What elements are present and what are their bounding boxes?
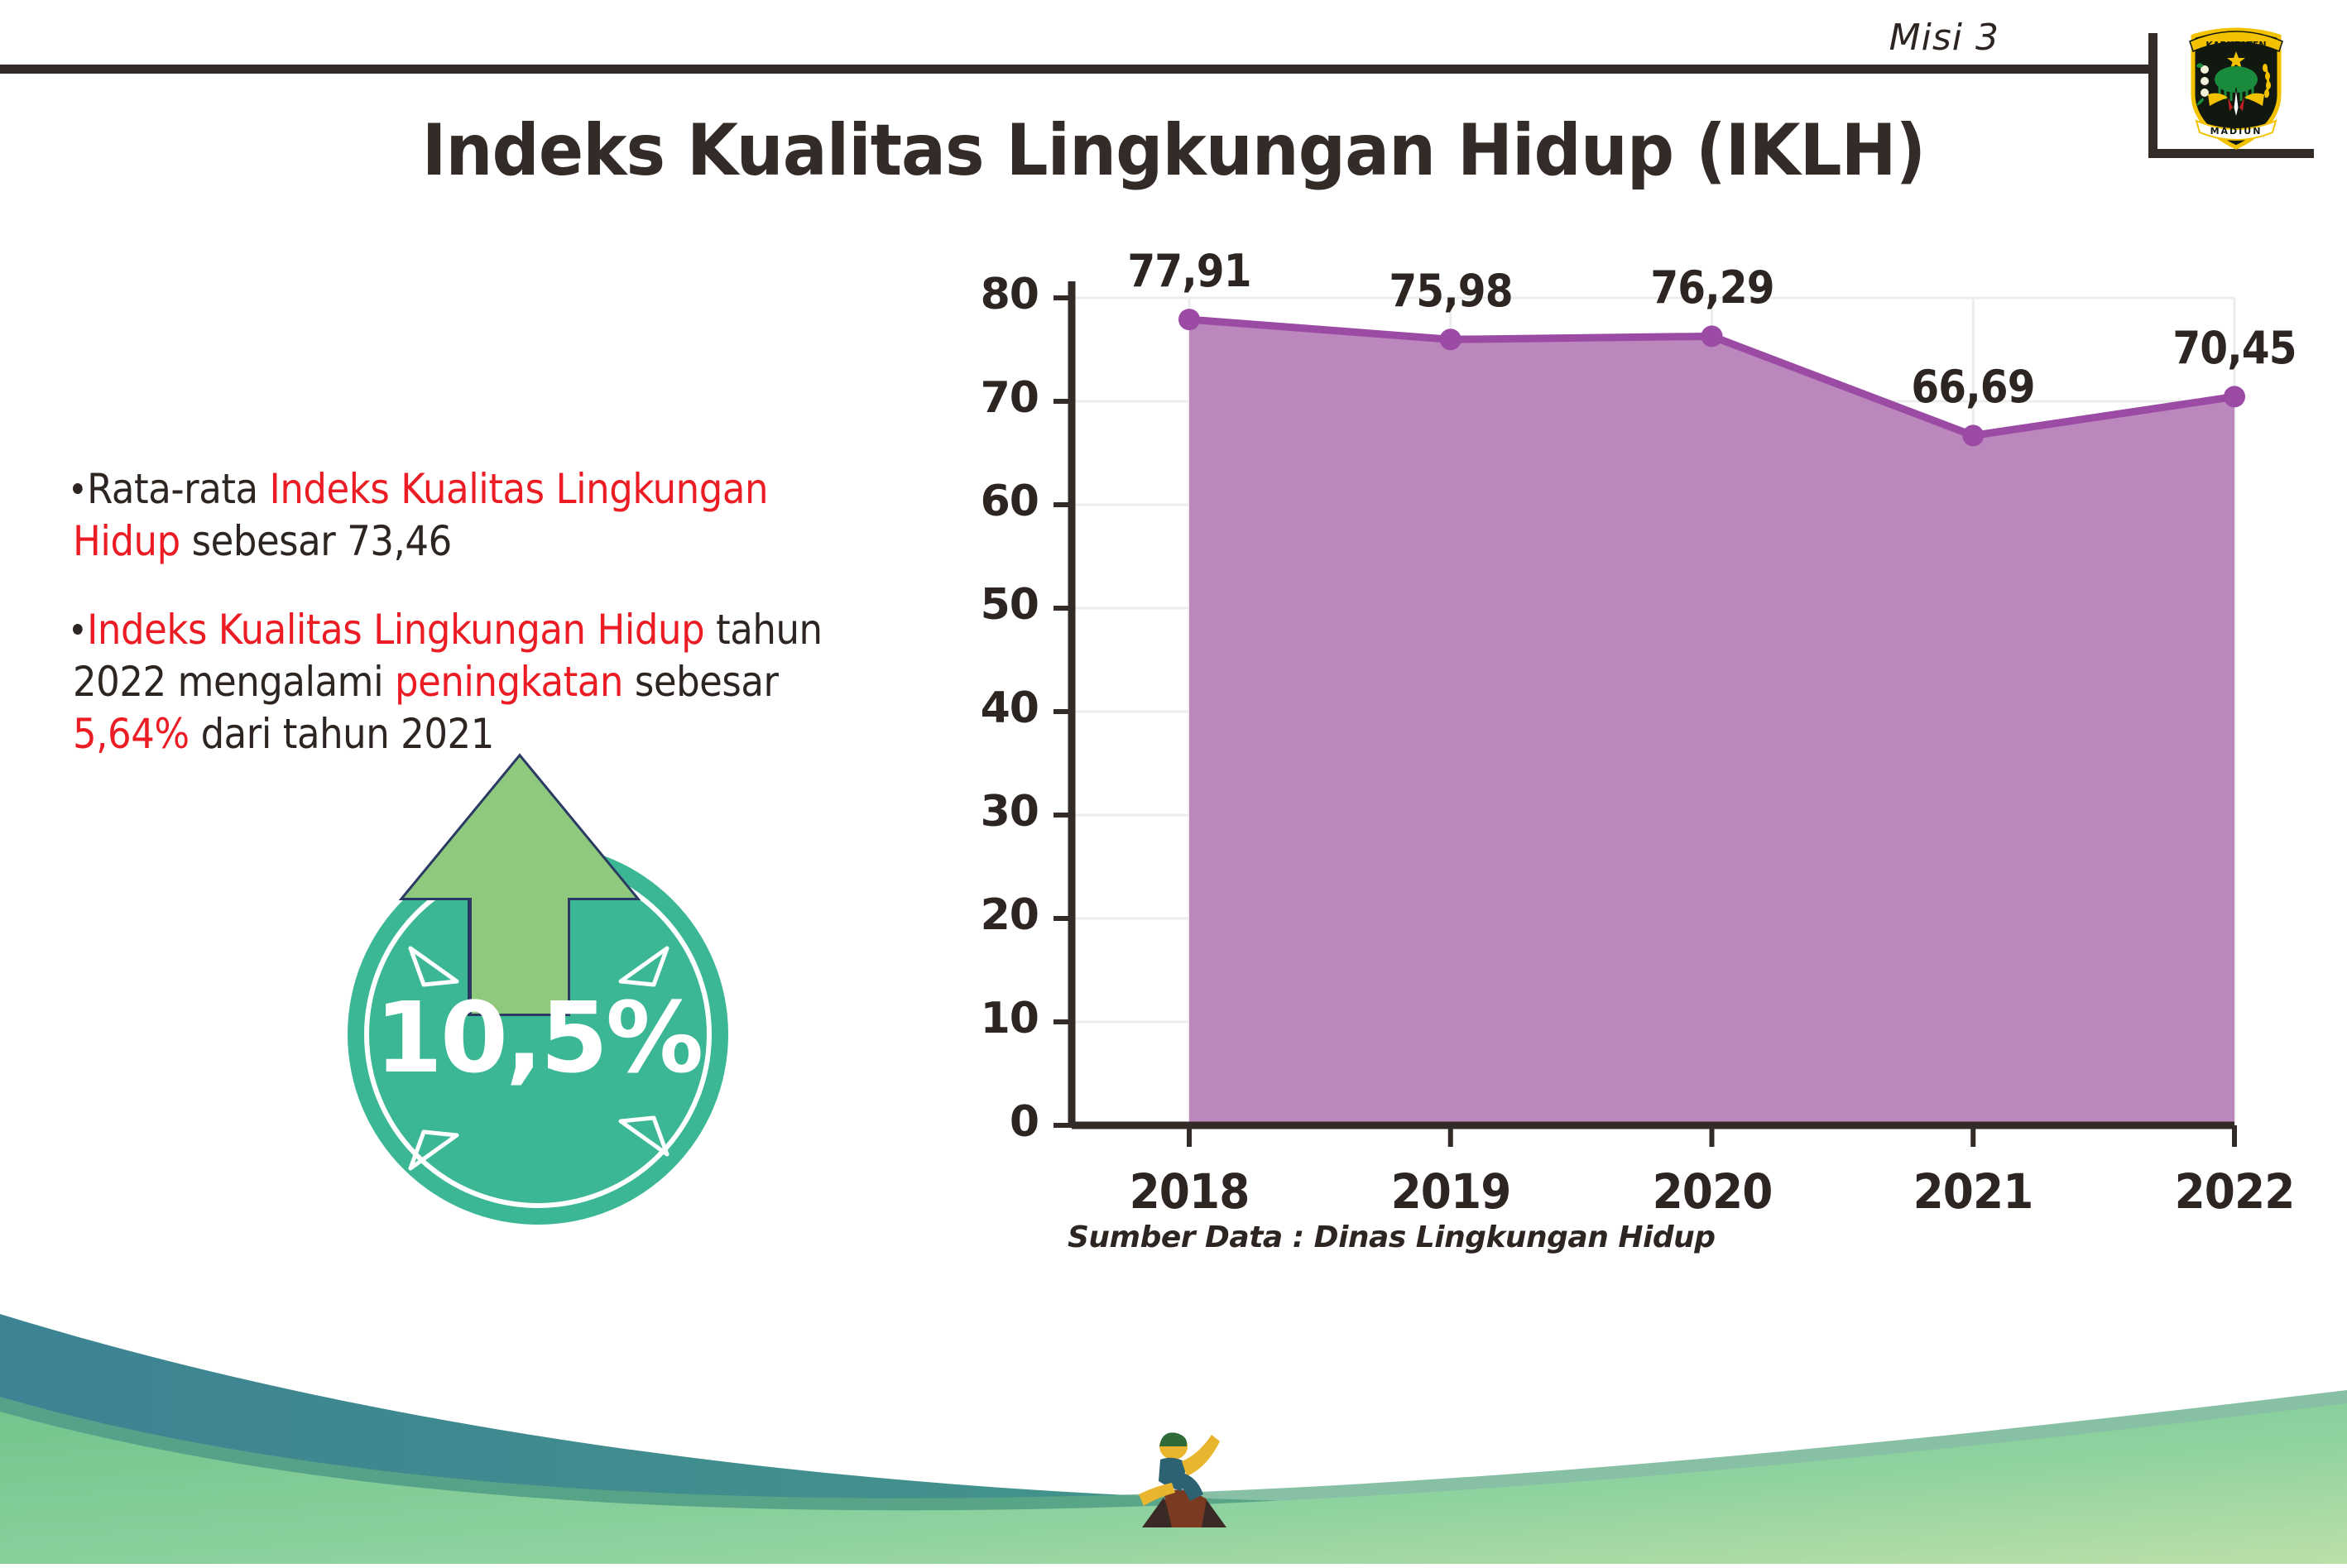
data-value-label: 75,98 <box>1354 265 1548 317</box>
badge-percent-value: 10,5% <box>348 981 728 1095</box>
bullet-dot <box>73 483 83 494</box>
iklh-area-chart: 01020304050607080 20182019202020212022 7… <box>952 281 2292 1258</box>
bullet-text: sebesar <box>623 658 779 706</box>
bullet-highlight-text: peningkatan <box>395 658 623 706</box>
bullet-item: Indeks Kualitas Lingkungan Hidup tahun 2… <box>73 604 877 760</box>
data-point-marker[interactable] <box>1701 325 1723 347</box>
bullet-item: Rata-rata Indeks Kualitas Lingkungan Hid… <box>73 463 877 568</box>
logo-top-text: KABUPATEN <box>2205 40 2266 50</box>
y-tick-label: 60 <box>931 477 1039 526</box>
triangle-tick-icon <box>614 1111 672 1159</box>
area-fill <box>1189 319 2234 1125</box>
y-tick-label: 20 <box>931 890 1039 940</box>
page-title: Indeks Kualitas Lingkungan Hidup (IKLH) <box>82 109 2264 192</box>
bullet-text: sebesar 73,46 <box>180 517 452 565</box>
x-tick-label: 2022 <box>2135 1163 2333 1220</box>
data-value-label: 76,29 <box>1615 261 1809 314</box>
y-tick-label: 10 <box>931 994 1039 1043</box>
y-tick-label: 30 <box>931 787 1039 837</box>
x-tick-label: 2021 <box>1874 1163 2072 1220</box>
data-value-label: 66,69 <box>1876 361 2070 413</box>
bullet-highlight-text: 5,64% <box>73 710 190 758</box>
bullet-text: Rata-rata <box>87 465 269 513</box>
y-tick-label: 70 <box>931 373 1039 423</box>
y-tick-label: 40 <box>931 683 1039 733</box>
x-tick-label: 2018 <box>1090 1163 1288 1220</box>
data-value-label: 70,45 <box>2138 322 2331 374</box>
statistics-dancer-icon <box>1135 1422 1235 1554</box>
left-text-panel: Rata-rata Indeks Kualitas Lingkungan Hid… <box>73 463 967 797</box>
growth-badge: 10,5% <box>323 749 786 1245</box>
bullet-dot <box>73 624 83 635</box>
data-point-marker[interactable] <box>2224 386 2245 407</box>
y-tick-label: 0 <box>931 1097 1039 1147</box>
chart-source-note: Sumber Data : Dinas Lingkungan Hidup <box>1068 1220 1716 1254</box>
x-tick-label: 2020 <box>1613 1163 1811 1220</box>
triangle-tick-icon <box>406 1125 463 1173</box>
data-value-label: 77,91 <box>1092 245 1286 297</box>
chart-canvas <box>952 281 2292 1258</box>
y-tick-label: 50 <box>931 580 1039 630</box>
header-rule <box>0 65 2157 74</box>
y-tick-label: 80 <box>931 270 1039 319</box>
bullet-highlight-text: Indeks Kualitas Lingkungan Hidup <box>87 606 704 654</box>
data-point-marker[interactable] <box>1178 309 1200 330</box>
data-point-marker[interactable] <box>1962 424 1984 446</box>
x-tick-label: 2019 <box>1351 1163 1549 1220</box>
data-point-marker[interactable] <box>1440 328 1461 350</box>
misi-label: Misi 3 <box>1889 17 1999 59</box>
